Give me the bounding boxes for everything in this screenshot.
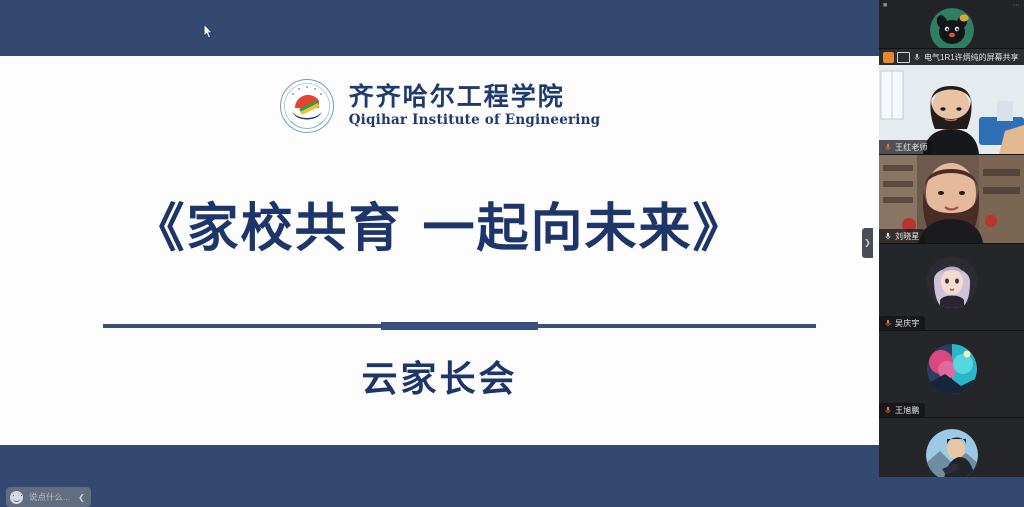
panel-collapse-handle[interactable]: ❯ [862,228,873,258]
presentation-bottom-letterbox [0,445,879,477]
title-divider [103,324,816,328]
school-seal-icon [279,78,335,134]
school-name-en: Qiqihar Institute of Engineering [349,114,601,128]
chip-right: ⋯ [1013,1,1020,9]
participant-namebar: 王旭鹏 [879,403,925,417]
screen-share-icon [883,52,894,63]
slide-subtitle: 云家长会 [0,350,879,402]
school-name-cn: 齐齐哈尔工程学院 [349,84,601,109]
participant-namebar: 刘晓星 [879,229,925,243]
participant-tile[interactable] [879,418,1024,477]
chat-composer[interactable]: 说点什么... ❮ [6,487,91,507]
participant-namebar: 王红老师 [879,140,933,154]
mic-on-icon [913,53,921,61]
participant-rail[interactable]: ■ ⋯ 电气1R1许炳纯的屏幕共享 [879,0,1024,477]
monitor-icon [897,52,910,63]
rail-top-chips: ■ ⋯ [879,0,1024,10]
avatar [927,344,977,394]
participant-tile[interactable]: 吴庆宇 [879,244,1024,331]
participant-name: 吴庆宇 [895,318,920,329]
mic-muted-icon [884,232,892,240]
mic-on-icon [884,143,892,151]
mic-on-icon [884,319,892,327]
participant-tile[interactable]: 王红老师 [879,65,1024,155]
avatar [926,429,978,477]
screen-share-banner[interactable]: 电气1R1许炳纯的屏幕共享 [879,49,1024,65]
participant-tile[interactable]: 王旭鹏 [879,331,1024,418]
school-branding: 齐齐哈尔工程学院 Qiqihar Institute of Engineerin… [0,78,879,134]
meeting-window: 齐齐哈尔工程学院 Qiqihar Institute of Engineerin… [0,0,1024,477]
screen-share-label: 电气1R1许炳纯的屏幕共享 [924,52,1019,63]
participant-tile[interactable]: 刘晓星 [879,155,1024,244]
slide-canvas: 齐齐哈尔工程学院 Qiqihar Institute of Engineerin… [0,56,879,445]
participant-tile[interactable]: ■ ⋯ [879,0,1024,49]
participant-name: 王旭鹏 [895,405,920,416]
smiley-icon[interactable] [10,491,23,504]
chat-input-placeholder[interactable]: 说点什么... [29,491,70,503]
participant-namebar: 吴庆宇 [879,316,925,330]
participant-name: 王红老师 [895,142,928,153]
title-divider-center [381,322,538,330]
avatar [926,256,978,308]
participant-name: 刘晓星 [895,231,920,242]
chevron-right-icon: ❯ [864,239,871,247]
mic-on-icon [884,406,892,414]
chip-left: ■ [883,2,887,9]
avatar [930,8,974,49]
slide-title: 《家校共育 一起向未来》 [0,186,879,261]
presentation-top-letterbox [0,0,879,56]
shared-screen-region[interactable]: 齐齐哈尔工程学院 Qiqihar Institute of Engineerin… [0,0,879,477]
chevron-left-icon[interactable]: ❮ [78,493,85,502]
mouse-cursor [200,22,216,42]
